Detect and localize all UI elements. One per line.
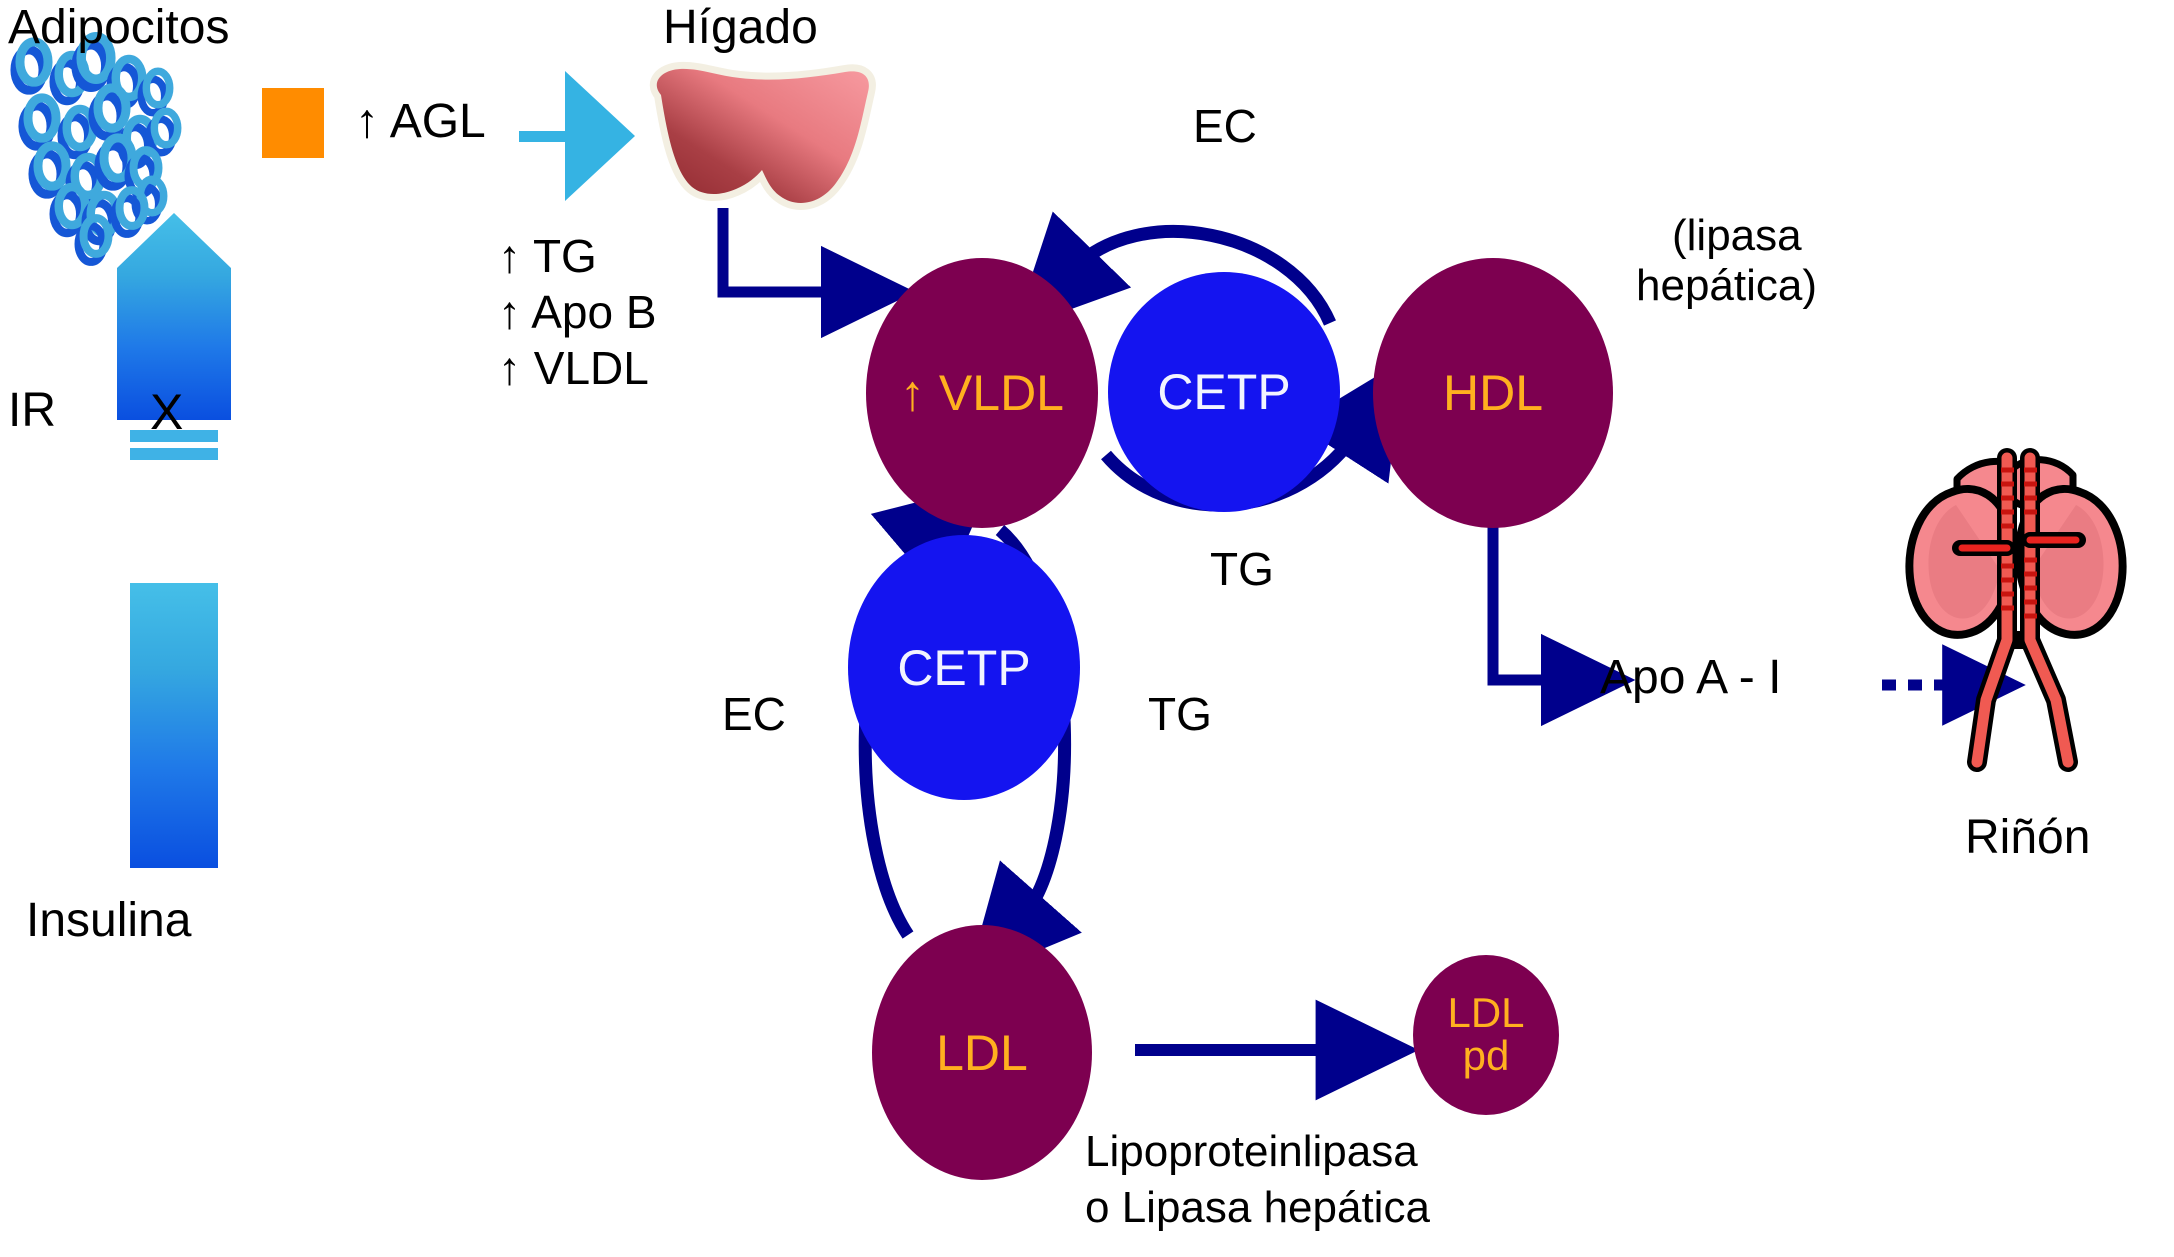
adipocyte-ring-icon xyxy=(129,150,159,194)
adipocyte-ring-icon xyxy=(135,179,163,221)
node-vldl-label: ↑ VLDL xyxy=(900,368,1064,418)
label-lipasa-hepatica-1: (lipasa xyxy=(1672,212,1802,260)
adipocyte-ring-icon xyxy=(54,55,86,101)
label-apo-a-i: Apo A - I xyxy=(1600,652,1781,704)
label-ec-top: EC xyxy=(1193,102,1257,152)
label-vldl-up: ↑ VLDL xyxy=(498,344,649,394)
node-ldl[interactable]: LDL xyxy=(872,925,1092,1180)
adipocyte-ring-icon xyxy=(23,98,56,146)
orange-square-icon xyxy=(262,88,324,158)
liver-to-vldl-arrow xyxy=(723,208,845,292)
label-apob-up: ↑ Apo B xyxy=(498,288,657,338)
label-insulina: Insulina xyxy=(26,895,191,947)
adipocyte-ring-icon xyxy=(54,187,86,233)
label-tg-bottom: TG xyxy=(1148,690,1212,740)
adipocyte-ring-icon xyxy=(70,157,102,203)
node-cetp-bottom[interactable]: CETP xyxy=(848,535,1080,800)
adipocyte-ring-icon xyxy=(111,59,143,105)
kidney-organ-icon xyxy=(1909,458,2122,762)
label-lipoproteinlipasa-2: o Lipasa hepática xyxy=(1085,1184,1430,1232)
adipocyte-ring-icon xyxy=(99,138,132,186)
node-cetp-top[interactable]: CETP xyxy=(1108,272,1340,512)
adipocyte-ring-icon xyxy=(141,71,169,113)
liver-organ-icon xyxy=(657,69,869,203)
node-hdl-label: HDL xyxy=(1443,368,1543,418)
label-ir: IR xyxy=(8,385,56,437)
adipocyte-ring-icon xyxy=(86,195,118,241)
node-vldl[interactable]: ↑ VLDL xyxy=(866,258,1098,528)
adipocyte-ring-icon xyxy=(149,111,177,153)
label-x-block: X xyxy=(150,385,183,439)
hdl-to-apoai-arrow xyxy=(1493,527,1565,680)
diagram-canvas: ↑ VLDL CETP HDL CETP LDL LDL pd Adipocit… xyxy=(0,0,2174,1257)
label-ec-bottom: EC xyxy=(722,690,786,740)
label-lipasa-hepatica-2: hepática) xyxy=(1636,262,1817,310)
node-ldl-pd[interactable]: LDL pd xyxy=(1413,955,1559,1115)
node-cetp-top-label: CETP xyxy=(1157,367,1290,417)
adipocyte-ring-icon xyxy=(79,218,109,262)
insulin-up-arrow-icon xyxy=(117,213,231,868)
label-adipocitos: Adipocitos xyxy=(8,2,229,54)
adipocyte-ring-icon xyxy=(115,190,145,234)
label-tg-top: TG xyxy=(1210,545,1274,595)
node-ldl-pd-line2: pd xyxy=(1463,1035,1510,1078)
node-cetp-bottom-label: CETP xyxy=(897,643,1030,693)
adipocyte-ring-icon xyxy=(33,146,66,194)
cyan-block-arrow-icon xyxy=(519,71,635,201)
node-ldl-pd-line1: LDL xyxy=(1447,992,1524,1035)
adipocyte-ring-icon xyxy=(62,109,94,155)
node-hdl[interactable]: HDL xyxy=(1373,258,1613,528)
adipocyte-cluster xyxy=(15,37,178,262)
adipocyte-ring-icon xyxy=(122,119,154,165)
adipocyte-ring-icon xyxy=(93,88,126,136)
label-higado: Hígado xyxy=(663,2,818,54)
label-lipoproteinlipasa-1: Lipoproteinlipasa xyxy=(1085,1128,1418,1176)
label-tg-up: ↑ TG xyxy=(498,232,597,282)
label-rinon: Riñón xyxy=(1965,812,2090,864)
node-ldl-label: LDL xyxy=(936,1028,1028,1078)
label-agl: ↑ AGL xyxy=(355,96,486,148)
